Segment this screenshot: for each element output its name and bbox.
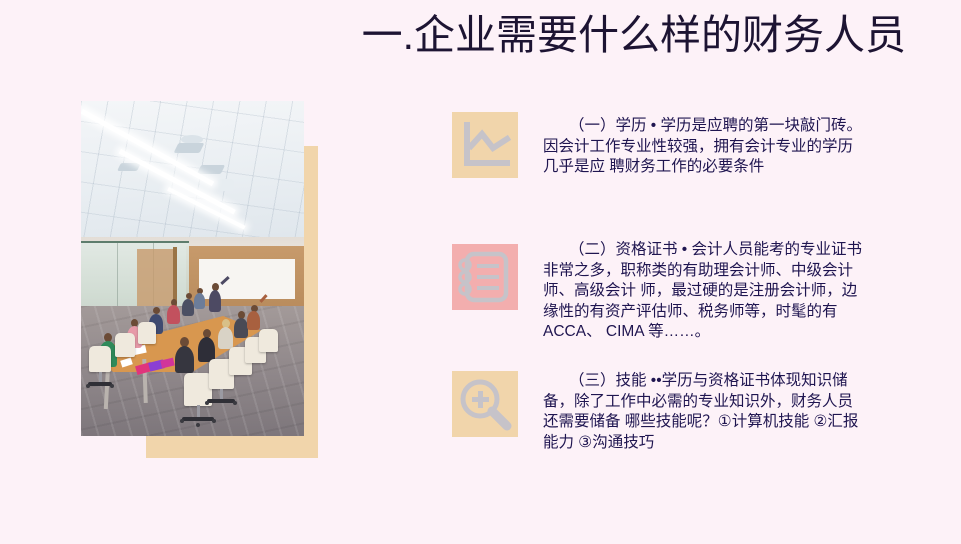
photo-attendee-body — [167, 305, 180, 324]
notebook-icon — [452, 244, 518, 310]
content-text-1: （一）学历 • 学历是应聘的第一块敲门砖。因会计工作专业性较强，拥有会计专业的学… — [543, 116, 864, 178]
photo-vent — [174, 143, 205, 153]
conference-room-photo — [81, 101, 304, 436]
photo-chair — [259, 329, 278, 352]
photo-chair-base — [207, 399, 235, 403]
photo-attendee-body — [218, 327, 233, 349]
photo-chair-wheel — [233, 401, 237, 405]
photo-presenter-body — [209, 290, 221, 312]
photo-attendee-body — [194, 293, 205, 309]
content-text-3: （三）技能 ••学历与资格证书体现知识储备，除了工作中必需的专业知识外，财务人员… — [543, 371, 864, 453]
photo-attendee-body — [247, 311, 260, 330]
photo-attendee-body — [175, 346, 194, 373]
page-title: 一.企业需要什么样的财务人员 — [300, 8, 906, 62]
photo-chair-wheel — [110, 384, 114, 388]
line-chart-icon — [452, 112, 518, 178]
photo-chair-wheel — [196, 423, 200, 427]
photo-attendee-head — [153, 307, 160, 314]
photo-attendee-body — [234, 318, 248, 338]
photo-chair-base — [88, 382, 112, 386]
photo-chair-wheel — [205, 401, 209, 405]
content-text-2: （二）资格证书 • 会计人员能考的专业证书非常之多，职称类的有助理会计师、中级会… — [543, 240, 864, 343]
photo-chair — [115, 333, 135, 357]
photo-chair-wheel — [180, 419, 184, 423]
slide-canvas: 一.企业需要什么样的财务人员 — [0, 0, 961, 544]
photo-vent — [117, 163, 141, 171]
magnifier-plus-icon — [452, 371, 518, 437]
photo-chair-wheel — [86, 384, 90, 388]
photo-vent — [197, 165, 225, 174]
photo-chair-base — [182, 417, 214, 421]
photo-door — [137, 249, 173, 311]
photo-chair — [89, 346, 111, 372]
photo-ceiling-projector — [218, 179, 234, 191]
photo-attendee-body — [182, 299, 194, 316]
photo-chair — [138, 322, 156, 344]
photo-chair-wheel — [212, 419, 216, 423]
